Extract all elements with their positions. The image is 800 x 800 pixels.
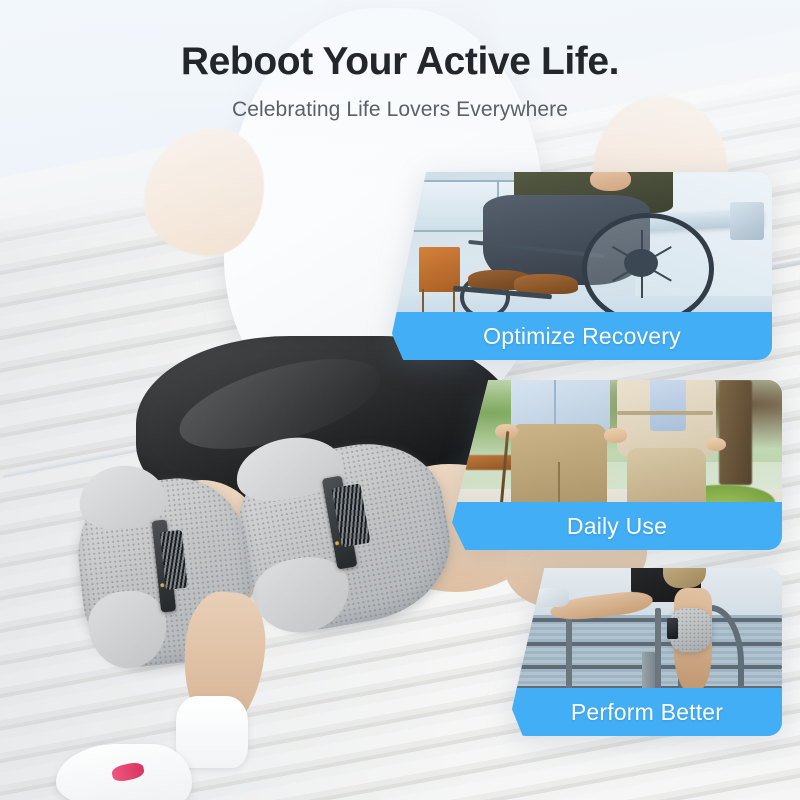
headline-block: Reboot Your Active Life. Celebrating Lif… bbox=[0, 42, 800, 122]
card-inner: Optimize Recovery bbox=[392, 172, 772, 360]
handrail-bracket bbox=[730, 202, 764, 240]
seated-man-hand bbox=[590, 172, 632, 191]
park-bench bbox=[465, 455, 518, 470]
railing-bar bbox=[512, 618, 782, 622]
card-inner: Perform Better bbox=[512, 568, 782, 736]
card-label-daily-use: Daily Use bbox=[452, 502, 782, 550]
athlete-brace-hinge bbox=[667, 618, 678, 638]
shirt-button-placket bbox=[554, 380, 556, 428]
woman-hand bbox=[706, 438, 726, 452]
railing-post bbox=[655, 608, 661, 699]
feature-card-daily-use[interactable]: Daily Use bbox=[452, 380, 782, 550]
held-hands bbox=[604, 428, 627, 443]
card-label-optimize-recovery: Optimize Recovery bbox=[392, 312, 772, 360]
woman-blouse bbox=[650, 380, 686, 431]
feature-card-optimize-recovery[interactable]: Optimize Recovery bbox=[392, 172, 772, 360]
athlete-shoe bbox=[536, 588, 568, 606]
feature-card-perform-better[interactable]: Perform Better bbox=[512, 568, 782, 736]
tree-trunk bbox=[719, 380, 752, 485]
page-headline: Reboot Your Active Life. bbox=[0, 42, 800, 83]
railing-post bbox=[566, 612, 572, 696]
wheel-hub bbox=[624, 249, 658, 277]
card-inner: Daily Use bbox=[452, 380, 782, 550]
promotional-banner: Reboot Your Active Life. Celebrating Lif… bbox=[0, 0, 800, 800]
page-subtitle: Celebrating Life Lovers Everywhere bbox=[0, 97, 800, 122]
card-label-perform-better: Perform Better bbox=[512, 688, 782, 736]
cardigan-belt bbox=[617, 411, 713, 415]
